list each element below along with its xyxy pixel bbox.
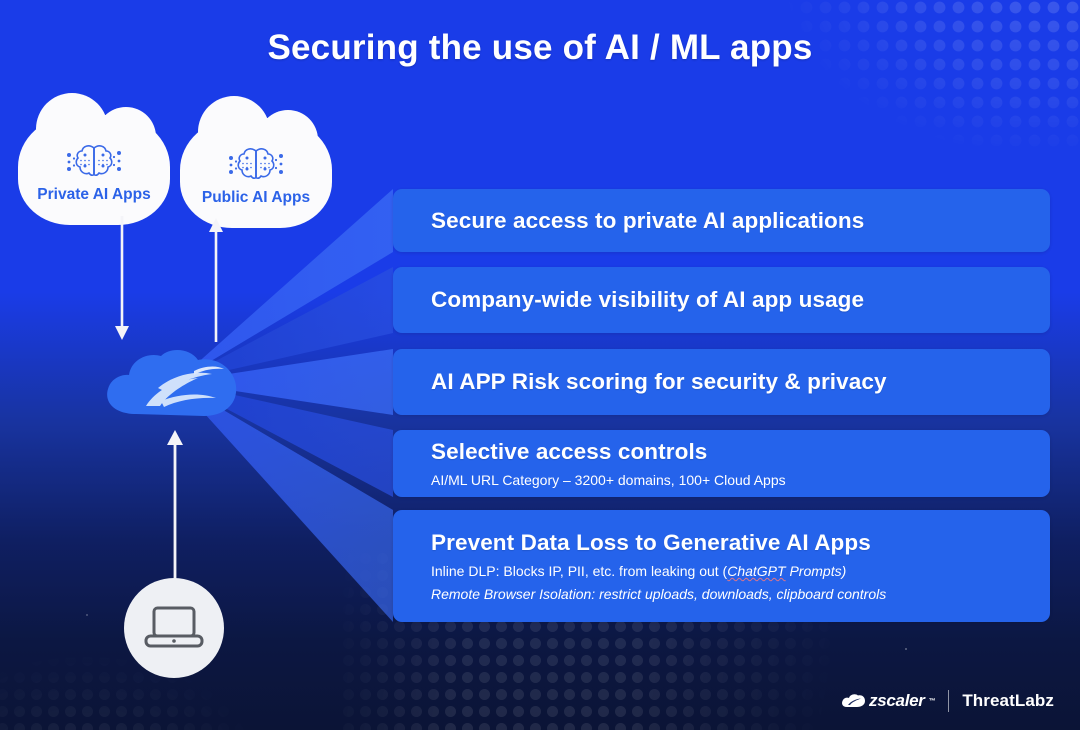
subtitle-tail-text: Prompts) bbox=[786, 563, 847, 579]
node-zscaler-cloud[interactable] bbox=[98, 344, 250, 422]
footer-branding: zscaler™ ThreatLabz bbox=[841, 690, 1054, 712]
ai-brain-icon bbox=[225, 143, 287, 187]
node-label-private-ai-apps: Private AI Apps bbox=[37, 186, 150, 204]
node-public-ai-apps[interactable]: Public AI Apps bbox=[180, 118, 332, 228]
subtitle-lead-text: Inline DLP: Blocks IP, PII, etc. from le… bbox=[431, 563, 727, 579]
zscaler-brand-text: zscaler bbox=[869, 691, 925, 711]
down-arrow-private bbox=[110, 216, 134, 342]
feature-panel[interactable]: Selective access controls AI/ML URL Cate… bbox=[393, 430, 1050, 497]
feature-panel[interactable]: Company-wide visibility of AI app usage bbox=[393, 267, 1050, 333]
brand-divider bbox=[948, 690, 949, 712]
feature-panel-title: Secure access to private AI applications bbox=[431, 208, 1050, 234]
zscaler-wordmark: zscaler™ bbox=[841, 691, 935, 711]
zscaler-cloud-logo bbox=[841, 693, 865, 709]
laptop-icon bbox=[143, 603, 205, 653]
up-arrow-endpoint bbox=[163, 428, 187, 580]
threatlabz-brand-text: ThreatLabz bbox=[962, 691, 1054, 711]
node-private-ai-apps[interactable]: Private AI Apps bbox=[18, 115, 170, 225]
feature-panel-title: Prevent Data Loss to Generative AI Apps bbox=[431, 530, 1050, 556]
zscaler-cloud-logo bbox=[98, 344, 250, 422]
trademark-symbol: ™ bbox=[929, 698, 936, 705]
slide-canvas: Securing the use of AI / ML apps bbox=[0, 0, 1080, 730]
feature-panel[interactable]: Prevent Data Loss to Generative AI Apps … bbox=[393, 510, 1050, 622]
feature-panel-subtitle: Inline DLP: Blocks IP, PII, etc. from le… bbox=[431, 563, 1050, 579]
feature-panel-title: AI APP Risk scoring for security & priva… bbox=[431, 369, 1050, 395]
subtitle-emphasis-text: ChatGPT bbox=[727, 563, 785, 579]
feature-panel[interactable]: AI APP Risk scoring for security & priva… bbox=[393, 349, 1050, 415]
feature-panel-subtitle: Remote Browser Isolation: restrict uploa… bbox=[431, 586, 1050, 602]
feature-panel-title: Company-wide visibility of AI app usage bbox=[431, 287, 1050, 313]
feature-panel[interactable]: Secure access to private AI applications bbox=[393, 189, 1050, 252]
node-label-public-ai-apps: Public AI Apps bbox=[202, 189, 310, 207]
feature-panel-subtitle: AI/ML URL Category – 3200+ domains, 100+… bbox=[431, 472, 1050, 488]
node-endpoint-device[interactable] bbox=[124, 578, 224, 678]
ai-brain-icon bbox=[63, 140, 125, 184]
feature-panel-title: Selective access controls bbox=[431, 439, 1050, 465]
up-arrow-public bbox=[204, 216, 228, 342]
